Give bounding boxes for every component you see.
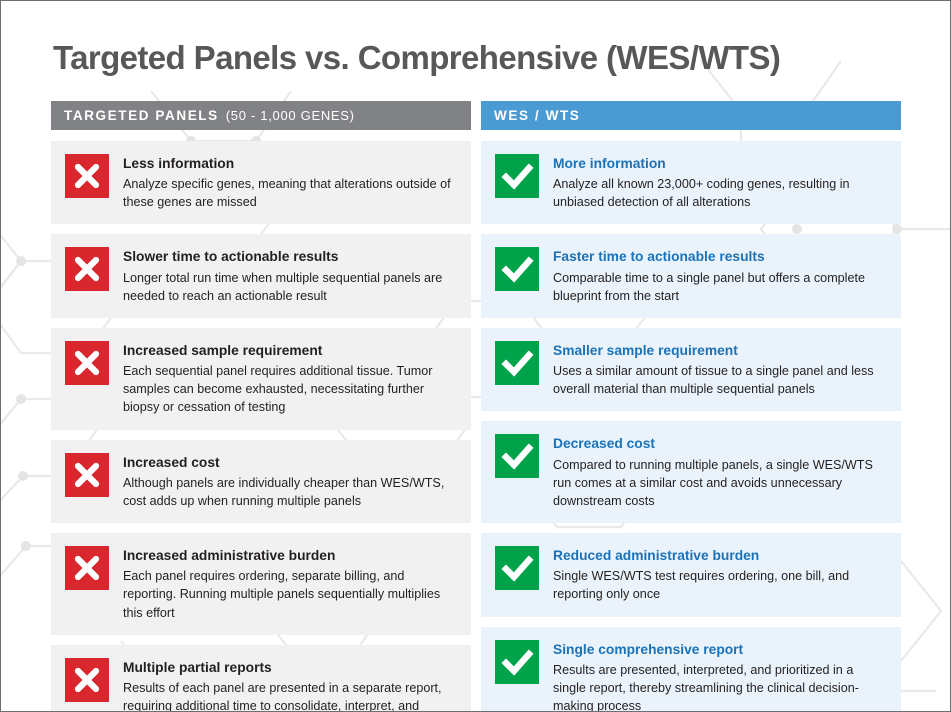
list-item: Multiple partial reports Results of each…	[51, 645, 471, 712]
checkmark-icon	[495, 546, 539, 590]
wes-wts-card-list: More information Analyze all known 23,00…	[481, 141, 901, 712]
list-item-title: Smaller sample requirement	[553, 342, 889, 359]
list-item: Increased sample requirement Each sequen…	[51, 328, 471, 430]
list-item-title: Increased cost	[123, 454, 459, 471]
x-mark-icon	[65, 453, 109, 497]
checkmark-icon	[495, 341, 539, 385]
checkmark-icon	[495, 247, 539, 291]
column-targeted-panels: TARGETED PANELS (50 - 1,000 GENES) Less …	[51, 101, 471, 712]
list-item-text: Less information Analyze specific genes,…	[123, 154, 459, 211]
column-header-main-label: TARGETED PANELS	[64, 108, 219, 123]
list-item-text: Reduced administrative burden Single WES…	[553, 546, 889, 603]
page-title: Targeted Panels vs. Comprehensive (WES/W…	[53, 39, 780, 77]
list-item-body: Each sequential panel requires additiona…	[123, 362, 459, 416]
list-item-text: More information Analyze all known 23,00…	[553, 154, 889, 211]
list-item: Increased cost Although panels are indiv…	[51, 440, 471, 523]
list-item-title: Increased sample requirement	[123, 342, 459, 359]
list-item-text: Increased administrative burden Each pan…	[123, 546, 459, 622]
list-item: More information Analyze all known 23,00…	[481, 141, 901, 224]
list-item-text: Decreased cost Compared to running multi…	[553, 434, 889, 510]
list-item-text: Increased sample requirement Each sequen…	[123, 341, 459, 417]
list-item: Less information Analyze specific genes,…	[51, 141, 471, 224]
list-item-body: Although panels are individually cheaper…	[123, 474, 459, 510]
list-item-title: Slower time to actionable results	[123, 248, 459, 265]
list-item-body: Single WES/WTS test requires ordering, o…	[553, 567, 889, 603]
checkmark-icon	[495, 154, 539, 198]
list-item: Smaller sample requirement Uses a simila…	[481, 328, 901, 411]
targeted-panels-card-list: Less information Analyze specific genes,…	[51, 141, 471, 712]
list-item: Decreased cost Compared to running multi…	[481, 421, 901, 523]
column-header-sub-label: (50 - 1,000 GENES)	[226, 108, 355, 123]
list-item-body: Compared to running multiple panels, a s…	[553, 456, 889, 510]
x-mark-icon	[65, 154, 109, 198]
x-mark-icon	[65, 247, 109, 291]
list-item-body: Uses a similar amount of tissue to a sin…	[553, 362, 889, 398]
list-item-title: Multiple partial reports	[123, 659, 459, 676]
list-item: Increased administrative burden Each pan…	[51, 533, 471, 635]
column-header-targeted-panels: TARGETED PANELS (50 - 1,000 GENES)	[51, 101, 471, 130]
column-header-wes-wts: WES / WTS	[481, 101, 901, 130]
list-item-body: Results of each panel are presented in a…	[123, 679, 459, 712]
list-item: Faster time to actionable results Compar…	[481, 234, 901, 317]
infographic-page: Targeted Panels vs. Comprehensive (WES/W…	[0, 0, 951, 712]
list-item-body: Longer total run time when multiple sequ…	[123, 269, 459, 305]
list-item-title: Decreased cost	[553, 435, 889, 452]
list-item-title: More information	[553, 155, 889, 172]
list-item: Slower time to actionable results Longer…	[51, 234, 471, 317]
list-item-text: Faster time to actionable results Compar…	[553, 247, 889, 304]
list-item-text: Slower time to actionable results Longer…	[123, 247, 459, 304]
list-item-title: Single comprehensive report	[553, 641, 889, 658]
list-item-body: Analyze specific genes, meaning that alt…	[123, 175, 459, 211]
checkmark-icon	[495, 640, 539, 684]
list-item-body: Comparable time to a single panel but of…	[553, 269, 889, 305]
x-mark-icon	[65, 658, 109, 702]
column-header-main-label: WES / WTS	[494, 108, 580, 123]
list-item: Reduced administrative burden Single WES…	[481, 533, 901, 616]
list-item-title: Faster time to actionable results	[553, 248, 889, 265]
list-item-text: Multiple partial reports Results of each…	[123, 658, 459, 712]
list-item-text: Smaller sample requirement Uses a simila…	[553, 341, 889, 398]
list-item-body: Each panel requires ordering, separate b…	[123, 567, 459, 621]
x-mark-icon	[65, 341, 109, 385]
list-item-title: Less information	[123, 155, 459, 172]
list-item-body: Results are presented, interpreted, and …	[553, 661, 889, 712]
list-item-text: Increased cost Although panels are indiv…	[123, 453, 459, 510]
list-item-title: Reduced administrative burden	[553, 547, 889, 564]
list-item-title: Increased administrative burden	[123, 547, 459, 564]
column-wes-wts: WES / WTS More information Analyze all k…	[481, 101, 901, 712]
list-item: Single comprehensive report Results are …	[481, 627, 901, 712]
list-item-text: Single comprehensive report Results are …	[553, 640, 889, 712]
list-item-body: Analyze all known 23,000+ coding genes, …	[553, 175, 889, 211]
checkmark-icon	[495, 434, 539, 478]
x-mark-icon	[65, 546, 109, 590]
